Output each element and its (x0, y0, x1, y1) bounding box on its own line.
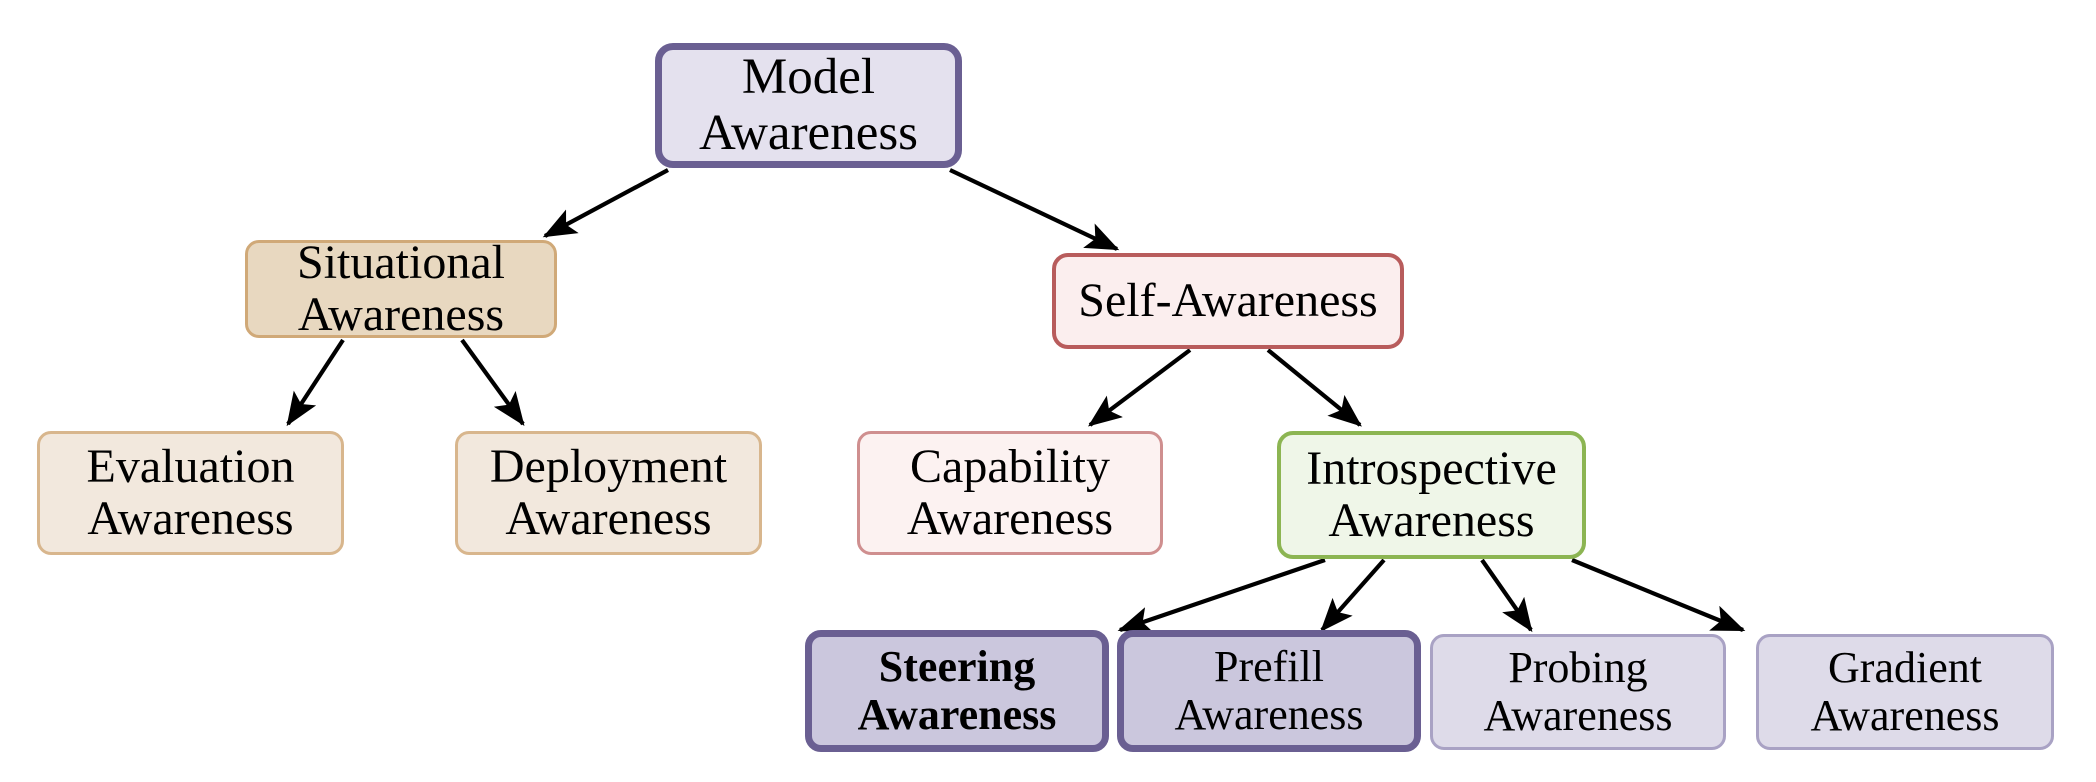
node-prefill-awareness-line1: Prefill (1214, 643, 1324, 691)
node-model-awareness[interactable]: Model Awareness (655, 43, 962, 168)
node-probing-awareness-line1: Probing (1508, 644, 1647, 692)
diagram-canvas: Model Awareness Situational Awareness Se… (0, 0, 2096, 782)
node-steering-awareness-line1: Steering (879, 643, 1035, 691)
edge-situational-to-deployment (462, 340, 523, 424)
edge-situational-to-evaluation (288, 340, 343, 424)
node-steering-awareness[interactable]: Steering Awareness (805, 630, 1109, 752)
node-situational-awareness-line1: Situational (297, 237, 505, 289)
node-gradient-awareness-line1: Gradient (1828, 644, 1982, 692)
node-gradient-awareness[interactable]: Gradient Awareness (1756, 634, 2054, 750)
node-probing-awareness[interactable]: Probing Awareness (1430, 634, 1726, 750)
node-probing-awareness-line2: Awareness (1484, 692, 1673, 740)
edge-introspective-to-probing (1482, 560, 1531, 630)
node-steering-awareness-line2: Awareness (858, 691, 1057, 739)
node-capability-awareness[interactable]: Capability Awareness (857, 431, 1163, 555)
node-model-awareness-line1: Model (742, 50, 875, 105)
node-capability-awareness-line1: Capability (910, 441, 1110, 493)
edge-self-to-introspective (1268, 350, 1360, 425)
edge-introspective-to-gradient (1572, 560, 1743, 630)
node-deployment-awareness[interactable]: Deployment Awareness (455, 431, 762, 555)
node-situational-awareness-line2: Awareness (298, 289, 504, 341)
node-deployment-awareness-line1: Deployment (490, 441, 727, 493)
node-evaluation-awareness[interactable]: Evaluation Awareness (37, 431, 344, 555)
node-gradient-awareness-line2: Awareness (1811, 692, 2000, 740)
node-evaluation-awareness-line1: Evaluation (87, 441, 295, 493)
edge-introspective-to-steering (1120, 560, 1325, 630)
node-prefill-awareness[interactable]: Prefill Awareness (1117, 630, 1421, 752)
node-deployment-awareness-line2: Awareness (505, 493, 711, 545)
node-capability-awareness-line2: Awareness (907, 493, 1113, 545)
node-introspective-awareness[interactable]: Introspective Awareness (1277, 431, 1586, 559)
node-introspective-awareness-line2: Awareness (1328, 495, 1534, 547)
node-self-awareness[interactable]: Self-Awareness (1052, 253, 1404, 349)
edge-root-to-self (950, 170, 1117, 249)
edge-self-to-capability (1090, 350, 1190, 425)
node-model-awareness-line2: Awareness (699, 106, 918, 161)
node-prefill-awareness-line2: Awareness (1175, 691, 1364, 739)
node-introspective-awareness-line1: Introspective (1306, 443, 1557, 495)
edge-introspective-to-prefill (1322, 560, 1384, 630)
node-evaluation-awareness-line2: Awareness (87, 493, 293, 545)
edge-root-to-situational (545, 170, 668, 236)
node-situational-awareness[interactable]: Situational Awareness (245, 240, 557, 338)
node-self-awareness-line1: Self-Awareness (1078, 275, 1377, 327)
